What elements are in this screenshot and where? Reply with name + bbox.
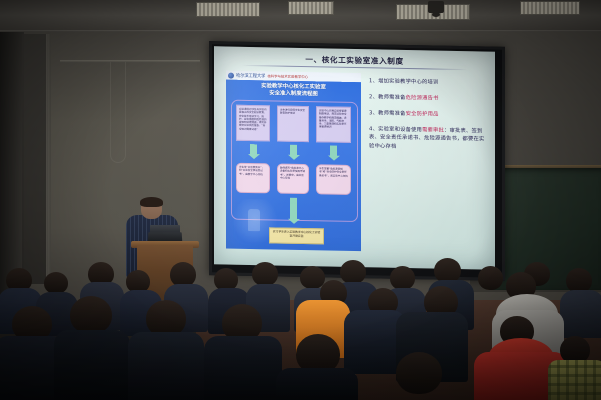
audience-torso [204,336,282,400]
flow-arrow-down-icon [330,146,337,157]
audience-torso [276,368,358,400]
bullet-item-1: 1、增加实验教学中心的培训 [369,77,487,88]
window-curtain [22,34,48,284]
ceiling-light-fixture [196,2,260,17]
bullet-text: 实验室和设备使用 [378,127,422,134]
flow-box: 实验中心开展实验室管理制度培训、规范试验安全操作教学和规范措施、设备安全、消防、… [316,106,351,143]
audience-torso [54,330,130,400]
flow-box: 学生签署“危险源告知书”和“安全防护安全责任承诺书”，送实验中心存档 [316,164,351,195]
slide-watermark [232,199,278,246]
wall-column [46,34,51,284]
bullet-item-4: 4、实验室和设备使用需要审批：审批表、签到表、安全责任承诺书、危险源通告书，都要… [369,126,487,153]
ceiling-light-fixture [288,1,334,15]
flow-box: 学生进行现场学生安全教育防护培训 [277,106,309,143]
bullet-item-3: 3、教师需准备安全防护用品 [369,109,487,120]
university-name: 哈尔滨工程大学 [236,72,265,79]
flow-box: 学生签“实验教育书”，和“实验安全承诺登记书”，由教学中心存档 [236,163,270,194]
bullet-highlight: 危险源通告书 [406,95,439,102]
watermark-shape [248,209,260,231]
flow-arrow-down-icon [290,198,297,220]
university-seal-icon [228,72,234,78]
center-name: 核科学与技术实验教学中心 [267,73,308,79]
audience-torso [560,290,601,338]
flowchart-heading-line2: 安全准入制度流程图 [226,90,361,100]
flowchart-heading: 实验教学中心核化工实验室 安全准入制度流程图 [226,83,361,100]
hanging-cord [110,62,126,163]
wall-rail [60,60,200,63]
lecture-hall-photo: 一、核化工实验室准入制度 哈尔滨工程大学 核科学与技术实验教学中心 实验教学中心… [0,0,601,400]
ceiling-light-fixture [520,1,580,15]
audience-head [252,262,278,286]
audience-head [390,266,415,290]
bullet-text: 教师需准备 [378,95,406,102]
bullet-number: 4、 [369,127,378,133]
audience-torso [128,332,204,400]
slide-logo-bar: 哈尔滨工程大学 核科学与技术实验教学中心 [226,71,361,83]
flow-box: 教师填写“危险源中心设备和实验室使用申请书”，并提交，由实验中心存档 [277,164,309,195]
audience-head [478,266,503,290]
projection-screen[interactable]: 一、核化工实验室准入制度 哈尔滨工程大学 核科学与技术实验教学中心 实验教学中心… [214,46,495,269]
flow-arrow-down-icon [250,144,257,155]
bullet-number: 3、 [369,110,378,116]
flow-box: 实验课前对涉及与实验内容相关的安全知识教育、安全技术培训学习、防护、应急措施和危… [236,105,270,142]
bullet-highlight: 需要审批 [422,128,444,134]
flow-arrow-down-icon [290,145,297,156]
bullet-item-2: 2、教师需准备危险源通告书 [369,93,487,104]
bullet-highlight: 安全防护用品 [406,111,439,118]
projector-lens-icon [432,12,440,17]
bullet-text: 教师需准备 [378,111,406,118]
plaid-shirt-student [548,360,601,400]
audience-head [44,272,68,294]
presenter-hair [140,197,163,207]
audience-head [70,296,112,334]
bullet-number: 2、 [369,94,378,100]
slide-bullet-list: 1、增加实验教学中心的培训 2、教师需准备危险源通告书 3、教师需准备安全防护用… [369,77,487,160]
bullet-number: 1、 [369,78,378,84]
flowchart-panel: 哈尔滨工程大学 核科学与技术实验教学中心 实验教学中心核化工实验室 安全准入制度… [226,71,361,252]
bullet-text: 增加实验教学中心的培训 [378,78,438,85]
audience-head [340,260,366,284]
audience-head [396,352,442,394]
